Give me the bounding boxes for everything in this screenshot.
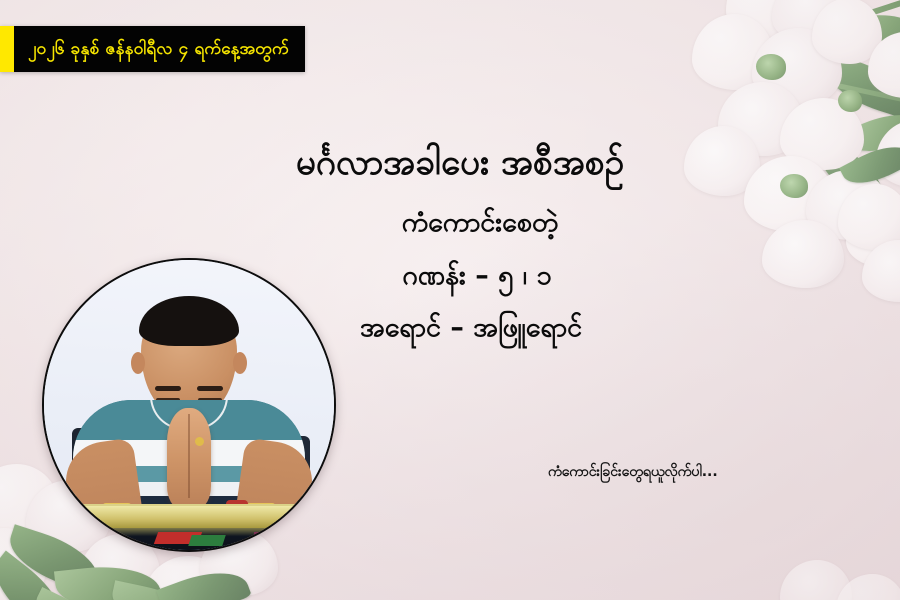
praying-hands xyxy=(167,408,211,508)
hands-center-line xyxy=(188,414,190,498)
flower-cluster-right-edge xyxy=(832,150,900,310)
footnote-text: ကံကောင်းခြင်းတွေရယူလိုက်ပါ... xyxy=(548,462,718,483)
date-banner: ၂၀၂၆ ခုနှစ် ဇန်နဝါရီလ ၄ ရက်နေ့အတွက် xyxy=(0,26,305,72)
page-title: မင်္ဂလာအခါပေး အစီအစဉ် xyxy=(140,140,780,187)
gold-ornament xyxy=(78,506,306,528)
poster-canvas: ၂၀၂၆ ခုနှစ် ဇန်နဝါရီလ ၄ ရက်နေ့အတွက် xyxy=(0,0,900,600)
desk-foreground xyxy=(44,504,334,550)
main-text-block: မင်္ဂလာအခါပေး အစီအစဉ် ကံကောင်းစေတဲ့ ဂဏန်… xyxy=(140,140,780,361)
flower-cluster-bottom-right xyxy=(780,540,900,600)
eyebrow-right xyxy=(197,386,223,391)
subtitle-lucky: ကံကောင်းစေတဲ့ xyxy=(180,203,780,244)
lucky-numbers-line: ဂဏန်း – ၅ ၊ ၁ xyxy=(174,256,780,297)
lucky-color-line: အရောင် – အဖြူရောင် xyxy=(162,308,780,349)
banner-accent-bar xyxy=(0,26,14,72)
eyebrow-left xyxy=(155,386,181,391)
green-desk-item xyxy=(188,535,226,546)
gold-ring xyxy=(195,437,204,446)
magenta-desk-item xyxy=(254,532,284,544)
banner-date-text: ၂၀၂၆ ခုနှစ် ဇန်နဝါရီလ ၄ ရက်နေ့အတွက် xyxy=(28,41,289,58)
banner-body: ၂၀၂၆ ခုနှစ် ဇန်နဝါရီလ ၄ ရက်နေ့အတွက် xyxy=(14,26,305,72)
